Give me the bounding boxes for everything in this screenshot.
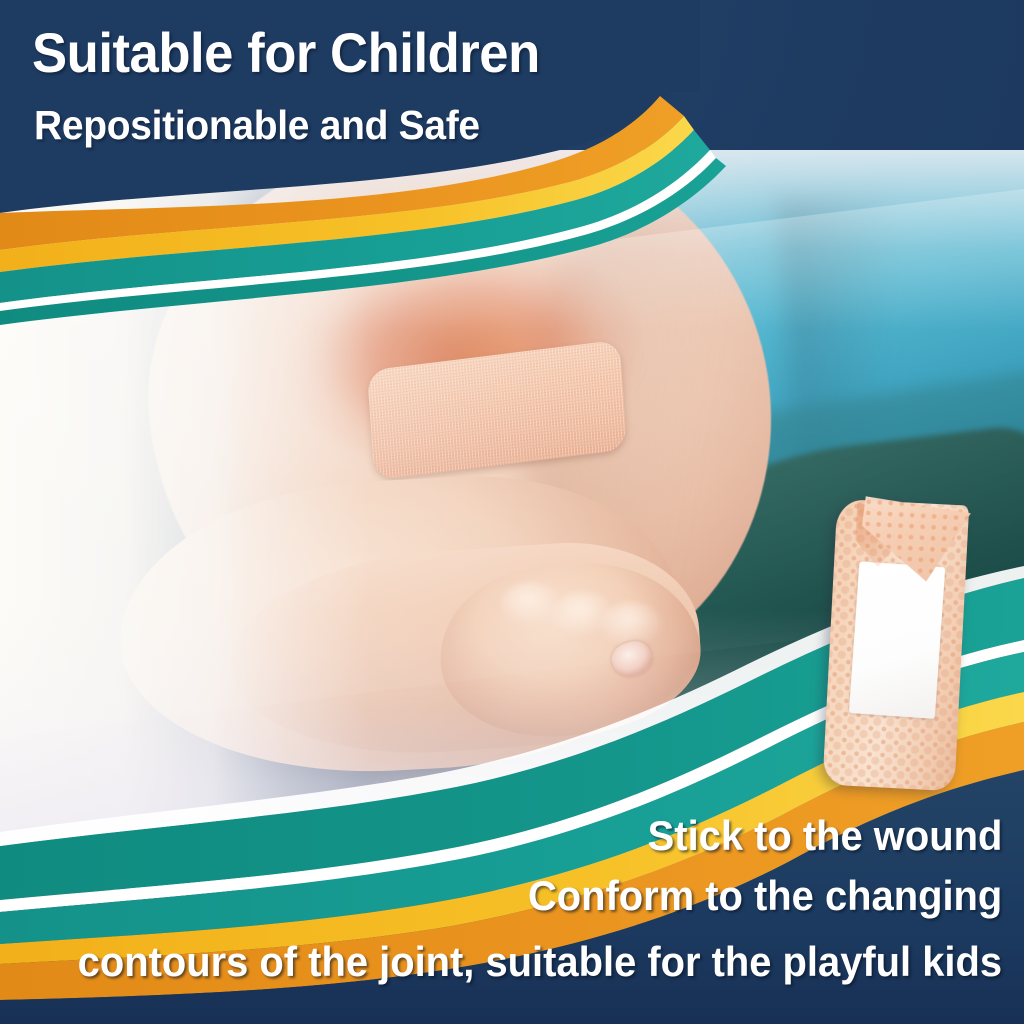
product-bandage xyxy=(812,488,977,795)
benefit-line-2: Conform to the changing xyxy=(528,872,1002,920)
subheadline: Repositionable and Safe xyxy=(34,102,480,149)
product-bandage-pad xyxy=(849,561,945,719)
benefit-line-3: contours of the joint, suitable for the … xyxy=(78,938,1002,986)
headline: Suitable for Children xyxy=(32,20,540,85)
product-banner: Suitable for Children Repositionable and… xyxy=(0,0,1024,1024)
benefit-line-1: Stick to the wound xyxy=(647,812,1002,860)
